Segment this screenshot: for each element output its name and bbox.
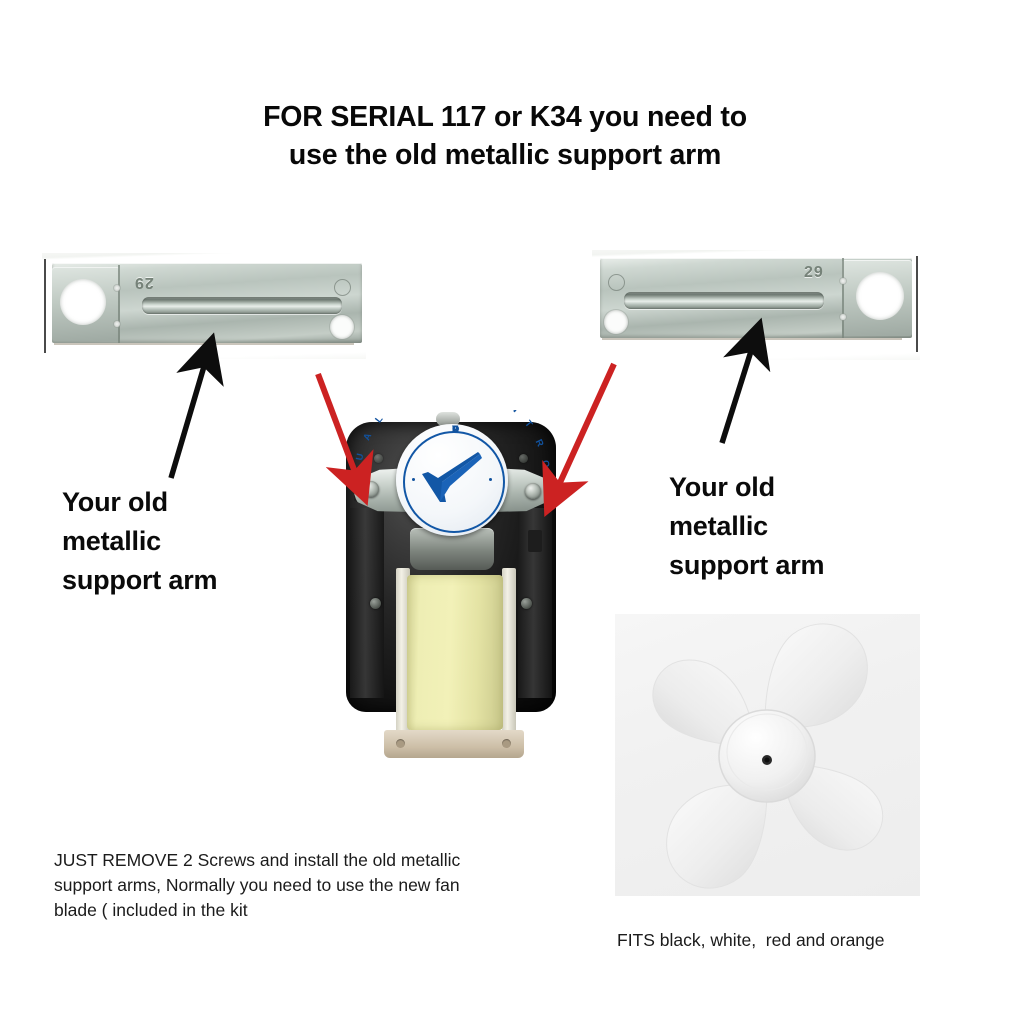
callout-left-line-2: metallic	[62, 522, 292, 561]
fan-motor-photo: QUALITY CONTROL DEVORPPA	[322, 410, 580, 770]
coil-foot-hole-left	[396, 739, 405, 748]
motor-body-screw-left	[370, 598, 381, 609]
bracket-large-mounting-hole	[856, 272, 904, 320]
fan-blade-svg	[615, 614, 920, 896]
callout-left-line-3: support arm	[62, 561, 292, 600]
fan-hub-bore-center	[765, 758, 770, 763]
instruction-graphic: FOR SERIAL 117 or K34 you need to use th…	[0, 0, 1010, 1010]
installation-note-line-2: support arms, Normally you need to use t…	[54, 873, 524, 898]
metallic-support-arm-left-photo: 29	[42, 253, 366, 359]
bracket-seam-line	[842, 258, 844, 338]
bracket-rivet-bump-top	[114, 285, 120, 291]
sticker-dot-left	[412, 478, 415, 481]
callout-left: Your old metallic support arm	[62, 483, 292, 600]
bracket-stamped-number: 29	[804, 264, 824, 282]
coil-bobbin-rim-right	[502, 568, 516, 740]
bracket-pressed-channel	[142, 297, 342, 314]
motor-body-dimple-right	[519, 454, 528, 463]
bracket-pressed-channel	[624, 292, 824, 309]
bracket-stamped-number: 29	[134, 273, 154, 291]
bracket-rivet-bump-top	[840, 278, 846, 284]
bracket-large-mounting-hole	[60, 279, 106, 325]
support-arm-right-illustration: 29	[592, 256, 920, 344]
bracket-seam-line	[118, 265, 120, 343]
page-title-line-2: use the old metallic support arm	[0, 136, 1010, 174]
callout-left-line-1: Your old	[62, 483, 292, 522]
callout-right-line-2: metallic	[669, 507, 919, 546]
coil-foot-hole-right	[502, 739, 511, 748]
motor-body-dimple-left	[374, 454, 383, 463]
bracket-bottom-edge	[602, 338, 902, 340]
quality-control-sticker: QUALITY CONTROL DEVORPPA	[396, 424, 508, 536]
bracket-scribed-circle	[608, 274, 625, 291]
support-arm-left-illustration: 29	[42, 259, 366, 347]
bracket-rivet-bump-bottom	[114, 321, 120, 327]
black-arrow-right	[722, 348, 752, 443]
motor-terminal-tab	[528, 530, 542, 552]
metallic-support-arm-right-photo: 29	[592, 250, 920, 360]
installation-note-line-3: blade ( included in the kit	[54, 898, 524, 923]
mount-screw-right[interactable]	[525, 483, 541, 499]
black-arrow-left	[171, 363, 205, 478]
fan-blade-photo	[615, 614, 920, 896]
bracket-bottom-edge	[54, 343, 354, 345]
sticker-dot-right	[489, 478, 492, 481]
bracket-small-mounting-hole	[604, 310, 628, 334]
installation-note: JUST REMOVE 2 Screws and install the old…	[54, 848, 524, 923]
mount-screw-left[interactable]	[363, 481, 379, 497]
callout-right-line-1: Your old	[669, 468, 919, 507]
coil-base-foot	[384, 730, 524, 758]
fits-note: FITS black, white, red and orange	[617, 928, 885, 952]
bracket-scribed-circle	[334, 279, 351, 296]
installation-note-line-1: JUST REMOVE 2 Screws and install the old…	[54, 848, 524, 873]
bracket-rivet-bump-bottom	[840, 314, 846, 320]
bracket-small-mounting-hole	[330, 315, 354, 339]
motor-body-screw-right	[521, 598, 532, 609]
page-title: FOR SERIAL 117 or K34 you need to use th…	[0, 98, 1010, 174]
callout-right-line-3: support arm	[669, 546, 919, 585]
fan-blade-illustration	[615, 614, 920, 896]
callout-right: Your old metallic support arm	[669, 468, 919, 585]
motor-coil	[407, 575, 503, 730]
page-title-line-1: FOR SERIAL 117 or K34 you need to	[263, 101, 747, 133]
